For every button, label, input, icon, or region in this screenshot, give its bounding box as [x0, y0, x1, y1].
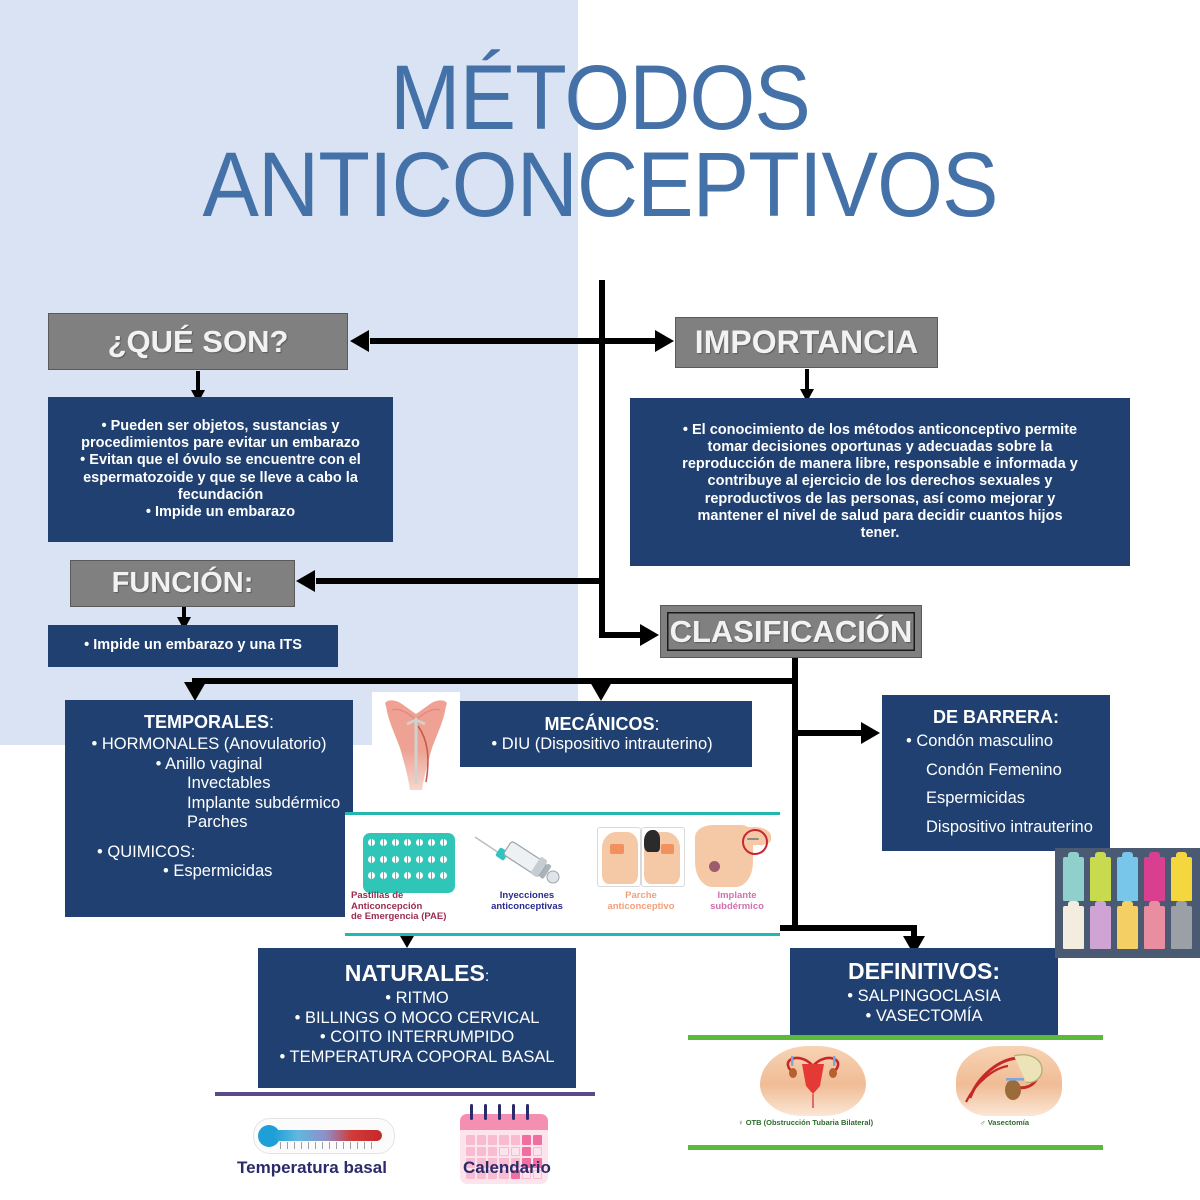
- node-que-son[interactable]: ¿QUÉ SON?: [48, 313, 348, 370]
- injections-caption: Inyecciones anticonceptivas: [473, 891, 581, 912]
- body-line: espermatozoide y que se lleve a cabo la: [58, 470, 383, 487]
- natural-methods-image: Temperatura basal Calendario: [215, 1092, 595, 1200]
- pills-icon: [363, 833, 455, 893]
- body-line: • VASECTOMÍA: [800, 1007, 1048, 1026]
- body-line: • BILLINGS O MOCO CERVICAL: [268, 1009, 566, 1028]
- body-line: • HORMONALES (Anovulatorio): [75, 735, 343, 754]
- thermometer-ticks: [280, 1142, 378, 1149]
- connector-quesont-down: [196, 371, 200, 392]
- body-line: • QUIMICOS:: [75, 843, 343, 862]
- uterus-illustration: [378, 696, 454, 796]
- implant-image: [693, 825, 775, 887]
- body-line: • RITMO: [268, 989, 566, 1008]
- node-clasificacion[interactable]: CLASIFICACIÓN: [660, 605, 922, 658]
- patch-image-right: [641, 827, 685, 887]
- condom-icon: [1063, 906, 1084, 950]
- connector-trunk-to-clasificacion: [599, 632, 643, 638]
- body-line: • TEMPERATURA COPORAL BASAL: [268, 1048, 566, 1067]
- arrow-to-funcion: [296, 570, 315, 592]
- arrow-to-que-son: [350, 330, 369, 352]
- body-line: Implante subdérmico: [75, 794, 343, 813]
- node-importancia-label: IMPORTANCIA: [695, 324, 918, 361]
- body-line: • Espermicidas: [75, 862, 343, 881]
- connector-clasificacion-left-rail: [192, 678, 798, 684]
- heading-text: NATURALES: [345, 960, 485, 986]
- condom-icon: [1063, 857, 1084, 901]
- connector-trunk-to-funcion: [316, 578, 602, 584]
- body-line: Parches: [75, 813, 343, 832]
- node-que-son-label: ¿QUÉ SON?: [108, 324, 289, 360]
- condom-icon: [1171, 906, 1192, 950]
- calendar-ring: [470, 1104, 473, 1120]
- vas-deferens-icon: [956, 1046, 1062, 1116]
- pills-caption: Pastillas de Anticoncepción de Emergenci…: [351, 891, 463, 923]
- condom-icon: [1144, 857, 1165, 901]
- node-importancia[interactable]: IMPORTANCIA: [675, 317, 938, 368]
- connector-trunk-to-importancia: [599, 338, 657, 344]
- otb-caption-text: OTB (Obstrucción Tubaria Bilateral): [746, 1118, 873, 1127]
- heading-suffix: :: [485, 968, 489, 985]
- heading-text: TEMPORALES: [144, 712, 269, 732]
- heading-suffix: :: [269, 712, 274, 732]
- calendar-header: [460, 1114, 548, 1130]
- node-naturales: NATURALES: • RITMO • BILLINGS O MOCO CER…: [258, 948, 576, 1088]
- patch-caption: Parche anticonceptivo: [589, 891, 693, 912]
- definitive-methods-image: ♀ OTB (Obstrucción Tubaria Bilateral) ♂ …: [688, 1035, 1103, 1150]
- node-temporales-heading: TEMPORALES:: [75, 712, 343, 733]
- body-line: • COITO INTERRUMPIDO: [268, 1028, 566, 1047]
- node-mecanicos: MECÁNICOS: • DIU (Dispositivo intrauteri…: [452, 701, 752, 767]
- node-clasificacion-label: CLASIFICACIÓN: [670, 614, 913, 650]
- body-line: • DIU (Dispositivo intrauterino): [462, 735, 742, 754]
- node-de-barrera: DE BARRERA: • Condón masculino Condón Fe…: [882, 695, 1110, 851]
- node-funcion-label: FUNCIÓN:: [112, 567, 254, 600]
- connector-to-de-barrera: [792, 730, 864, 736]
- implant-caption: Implante subdérmico: [691, 891, 783, 912]
- node-naturales-heading: NATURALES:: [268, 960, 566, 987]
- body-line: • Impide un embarazo y una ITS: [58, 637, 328, 654]
- calendario-caption: Calendario: [463, 1158, 551, 1178]
- vasectomy-figure: [956, 1046, 1062, 1116]
- male-symbol-icon: ♂: [980, 1118, 986, 1127]
- node-de-barrera-heading: DE BARRERA:: [892, 707, 1100, 728]
- condom-icon: [1090, 857, 1111, 901]
- body-line: • Anillo vaginal: [75, 755, 343, 774]
- body-line: • Impide un embarazo: [58, 504, 383, 521]
- connector-importancia-down: [805, 369, 809, 391]
- arrow-to-de-barrera: [861, 722, 880, 744]
- vasectomia-caption-text: Vasectomía: [988, 1118, 1029, 1127]
- body-line: • Evitan que el óvulo se encuentre con e…: [58, 452, 383, 469]
- syringe-icon: [473, 831, 565, 887]
- thermometer-bar: [274, 1130, 382, 1141]
- patch-image-left: [597, 827, 641, 887]
- connector-trunk-vertical: [599, 280, 605, 638]
- body-line: reproducción de manera libre, responsabl…: [640, 456, 1120, 473]
- body-line: [75, 833, 343, 843]
- node-definitivos: DEFINITIVOS: • SALPINGOCLASIA • VASECTOM…: [790, 948, 1058, 1042]
- node-funcion[interactable]: FUNCIÓN:: [70, 560, 295, 607]
- node-funcion-body: • Impide un embarazo y una ITS: [48, 625, 338, 667]
- otb-figure: [760, 1046, 866, 1116]
- body-line: Invectables: [75, 774, 343, 793]
- condoms-image: [1055, 848, 1200, 958]
- arrow-to-temporales: [184, 682, 206, 701]
- body-line: mantener el nivel de salud para decidir …: [640, 508, 1120, 525]
- body-line: Condón Femenino: [892, 761, 1100, 780]
- body-line: tener.: [640, 525, 1120, 542]
- calendar-ring: [498, 1104, 501, 1120]
- body-line: • El conocimiento de los métodos anticon…: [640, 422, 1120, 439]
- condom-icon: [1090, 906, 1111, 950]
- condom-icon: [1144, 906, 1165, 950]
- connector-trunk-to-quesont: [370, 338, 602, 344]
- thermometer-icon: [253, 1118, 395, 1154]
- body-line: reproductivos de las personas, así como …: [640, 491, 1120, 508]
- otb-caption: ♀ OTB (Obstrucción Tubaria Bilateral): [738, 1118, 873, 1127]
- body-line: procedimientos pare evitar un embarazo: [58, 435, 383, 452]
- body-line: Dispositivo intrauterino: [892, 818, 1100, 837]
- vasectomia-caption: ♂ Vasectomía: [980, 1118, 1029, 1127]
- iud-uterus-image: [372, 692, 460, 810]
- body-line: fecundación: [58, 487, 383, 504]
- node-importancia-body: • El conocimiento de los métodos anticon…: [630, 398, 1130, 566]
- heading-suffix: :: [655, 714, 660, 734]
- connector-clasificacion-down: [792, 657, 798, 931]
- body-line: • Condón masculino: [892, 732, 1100, 751]
- node-mecanicos-heading: MECÁNICOS:: [462, 714, 742, 735]
- contraceptive-methods-image: Pastillas de Anticoncepción de Emergenci…: [345, 812, 780, 936]
- temperatura-basal-caption: Temperatura basal: [237, 1158, 387, 1178]
- condom-icon: [1171, 857, 1192, 901]
- calendar-ring: [526, 1104, 529, 1120]
- body-line: Espermicidas: [892, 789, 1100, 808]
- condom-icon: [1117, 906, 1138, 950]
- arrow-to-clasificacion: [640, 624, 659, 646]
- body-line: • Pueden ser objetos, sustancias y: [58, 418, 383, 435]
- arrow-to-importancia: [655, 330, 674, 352]
- heading-text: MECÁNICOS: [544, 714, 654, 734]
- node-que-son-body: • Pueden ser objetos, sustancias y proce…: [48, 397, 393, 542]
- calendar-ring: [484, 1104, 487, 1120]
- node-temporales: TEMPORALES: • HORMONALES (Anovulatorio) …: [65, 700, 353, 917]
- page-title: MÉTODOS ANTICONCEPTIVOS: [48, 55, 1152, 230]
- body-line: • SALPINGOCLASIA: [800, 987, 1048, 1006]
- diagram-canvas: MÉTODOS ANTICONCEPTIVOS ¿QUÉ SON? IMPORT…: [0, 0, 1200, 1200]
- female-symbol-icon: ♀: [738, 1118, 744, 1127]
- body-line: contribuye al ejercicio de los derechos …: [640, 473, 1120, 490]
- uterus-diagram-icon: [760, 1046, 866, 1116]
- arrow-to-mecanicos: [590, 682, 612, 701]
- node-definitivos-heading: DEFINITIVOS:: [800, 958, 1048, 985]
- condom-icon: [1117, 857, 1138, 901]
- body-line: tomar decisiones oportunas y adecuadas s…: [640, 439, 1120, 456]
- calendar-ring: [512, 1104, 515, 1120]
